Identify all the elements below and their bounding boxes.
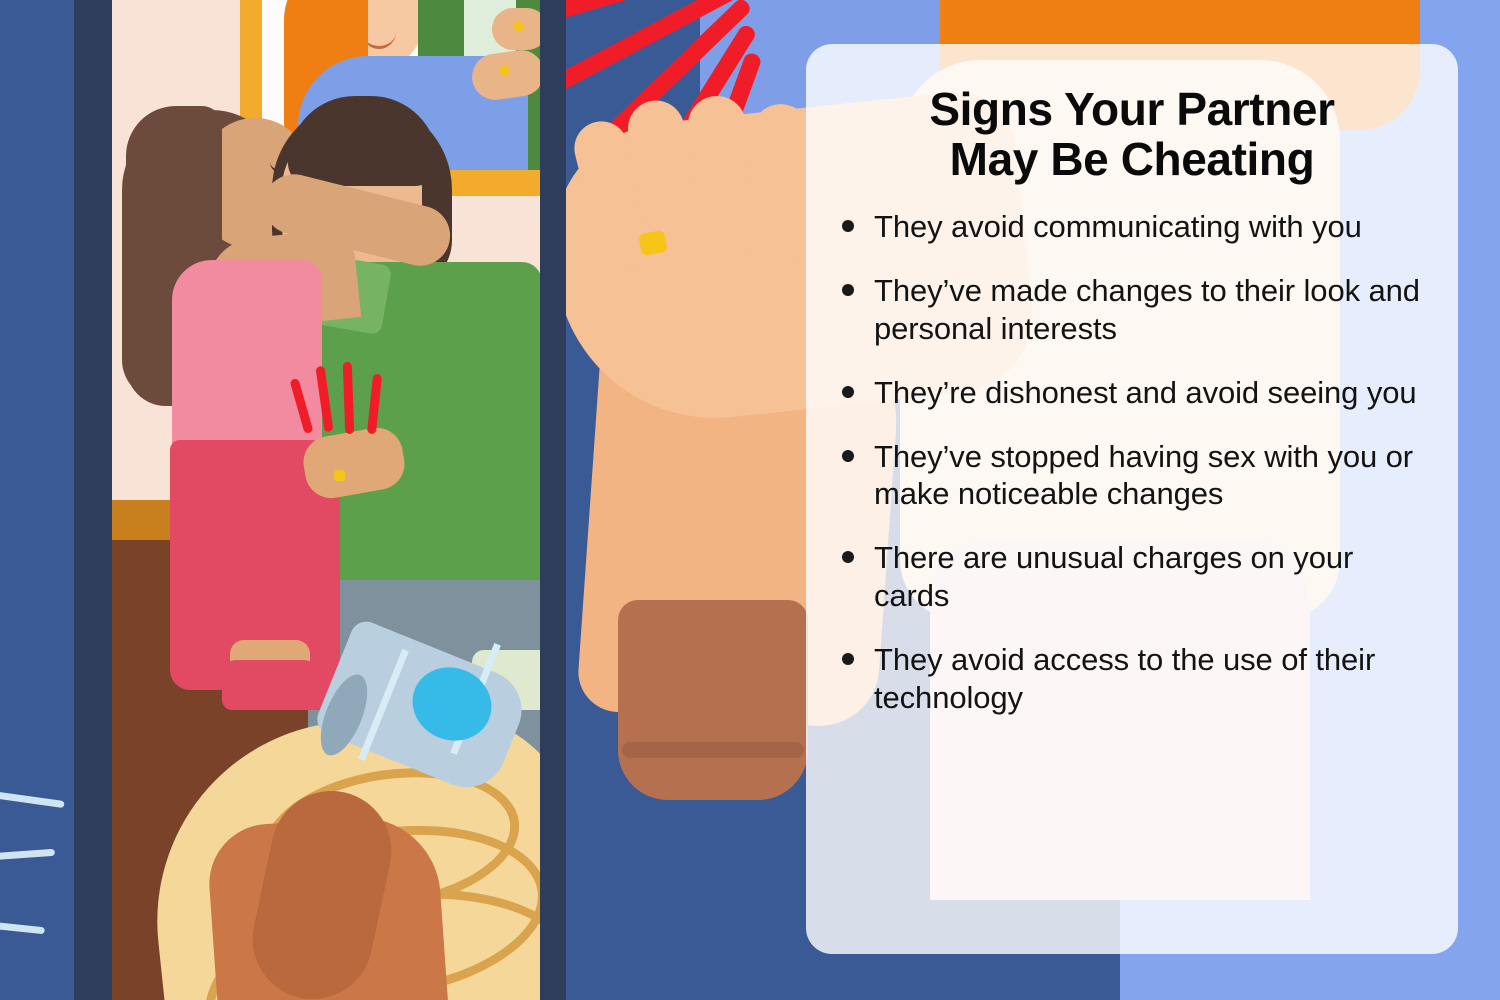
list-item-label: They avoid access to the use of their te… (874, 641, 1424, 717)
page-title-line-1: Signs Your Partner (929, 83, 1334, 135)
right-navy-door-edge (540, 0, 566, 1000)
list-item-label: They’re dishonest and avoid seeing you (874, 374, 1424, 412)
left-navy-door-edge (74, 0, 114, 1000)
eavesdropper-sleeve (618, 600, 808, 800)
signs-list: They avoid communicating with you They’v… (840, 208, 1424, 716)
bullet-dot-icon (842, 284, 854, 296)
bullet-dot-icon (842, 653, 854, 665)
bullet-dot-icon (842, 386, 854, 398)
bullet-dot-icon (842, 450, 854, 462)
hand-finger-4 (742, 102, 812, 274)
infographic-canvas: Signs Your Partner May Be Cheating They … (0, 0, 1500, 1000)
hand-ring (638, 230, 667, 256)
list-item: They’re dishonest and avoid seeing you (840, 374, 1424, 412)
eavesdropper-sleeve-cuff (622, 742, 804, 758)
text-card: Signs Your Partner May Be Cheating They … (806, 44, 1458, 954)
list-item-label: There are unusual charges on your cards (874, 539, 1424, 615)
list-item: They avoid access to the use of their te… (840, 641, 1424, 717)
list-item-label: They’ve made changes to their look and p… (874, 272, 1424, 348)
page-title-line-2: May Be Cheating (950, 133, 1315, 185)
mirror-ring-lower (500, 66, 509, 75)
doorway-scene (112, 0, 542, 1000)
page-title: Signs Your Partner May Be Cheating (840, 84, 1424, 184)
hand-finger-3 (687, 95, 751, 273)
bullet-dot-icon (842, 220, 854, 232)
mirror-ring-upper (514, 22, 523, 31)
woman-sandal (222, 660, 332, 710)
list-item-label: They’ve stopped having sex with you or m… (874, 438, 1424, 514)
list-item: They’ve stopped having sex with you or m… (840, 438, 1424, 514)
man-wedding-ring (334, 470, 345, 481)
bullet-dot-icon (842, 551, 854, 563)
list-item: They’ve made changes to their look and p… (840, 272, 1424, 348)
list-item: There are unusual charges on your cards (840, 539, 1424, 615)
list-item: They avoid communicating with you (840, 208, 1424, 246)
list-item-label: They avoid communicating with you (874, 208, 1424, 246)
